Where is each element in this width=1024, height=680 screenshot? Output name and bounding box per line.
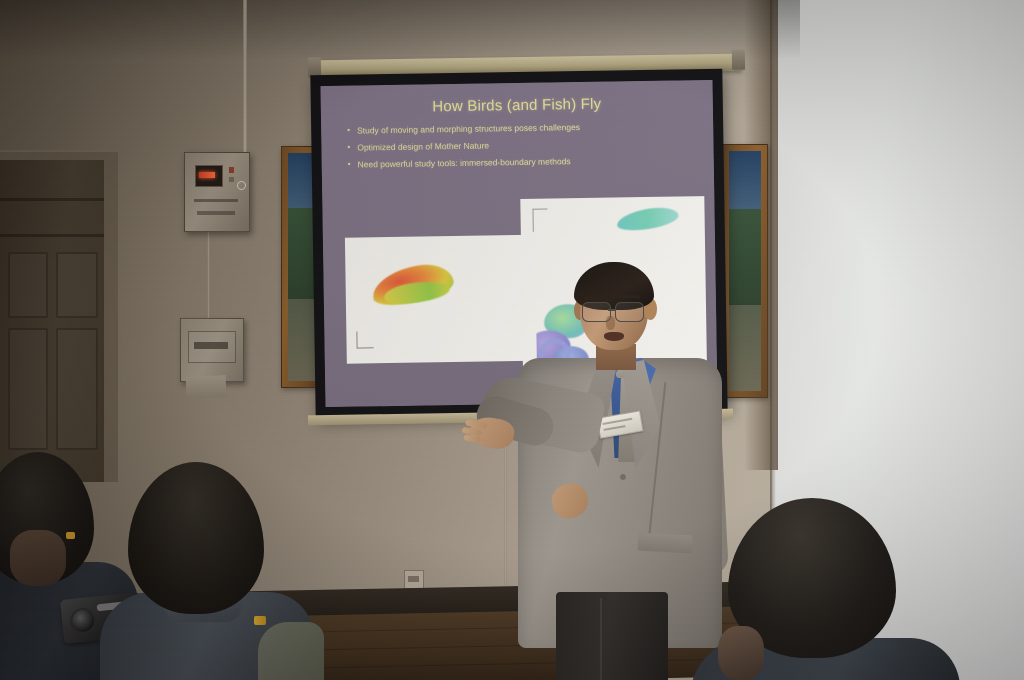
control-display (195, 165, 223, 187)
audience-face (718, 626, 764, 680)
slide-bullet-text: Need powerful study tools: immersed-boun… (357, 156, 570, 170)
audience-member-right (706, 498, 936, 680)
power-button[interactable] (229, 167, 234, 173)
mouth (604, 332, 624, 341)
slide-bullet-text: Study of moving and morphing structures … (357, 122, 580, 136)
control-knob[interactable] (237, 181, 246, 190)
bullet-marker-icon: • (347, 142, 350, 153)
wall-outlet[interactable] (404, 570, 424, 589)
audience-member-left (0, 452, 114, 680)
slide-title: How Birds (and Fish) Fly (321, 94, 713, 117)
slide-bullet: • Optimized design of Mother Nature (347, 137, 699, 153)
glasses-icon (615, 302, 644, 322)
jacket-patch-icon (254, 616, 266, 625)
audience-head (128, 462, 264, 614)
hair-clip (66, 532, 75, 539)
audience-face (10, 530, 66, 586)
led-indicator (199, 172, 215, 178)
conduit-pipe (243, 0, 247, 152)
lecture-photograph: How Birds (and Fish) Fly • Study of movi… (0, 0, 1024, 680)
glasses-bridge (608, 309, 616, 311)
speaker (470, 262, 730, 680)
door[interactable] (0, 160, 104, 482)
mode-button[interactable] (229, 177, 234, 182)
jacket-button (620, 474, 626, 480)
jacket-pocket-flap (638, 533, 693, 554)
bullet-marker-icon: • (348, 159, 351, 170)
electric-meter-panel[interactable] (180, 318, 244, 382)
audience-member-center (108, 462, 298, 680)
slide-bullet-list: • Study of moving and morphing structure… (347, 120, 700, 176)
ceiling-shadow (0, 0, 800, 60)
slide-bullet: • Study of moving and morphing structure… (347, 120, 699, 136)
camera-lens-icon (69, 607, 98, 636)
slide-bullet: • Need powerful study tools: immersed-bo… (348, 154, 700, 170)
speaker-trousers (556, 592, 668, 680)
nose (606, 316, 615, 330)
slide-bullet-text: Optimized design of Mother Nature (357, 140, 489, 153)
meter-digits (194, 342, 228, 349)
wall-control-box[interactable] (184, 152, 250, 232)
meter-panel-flap[interactable] (186, 375, 227, 398)
bullet-marker-icon: • (347, 126, 350, 137)
control-box-cable (207, 228, 210, 320)
